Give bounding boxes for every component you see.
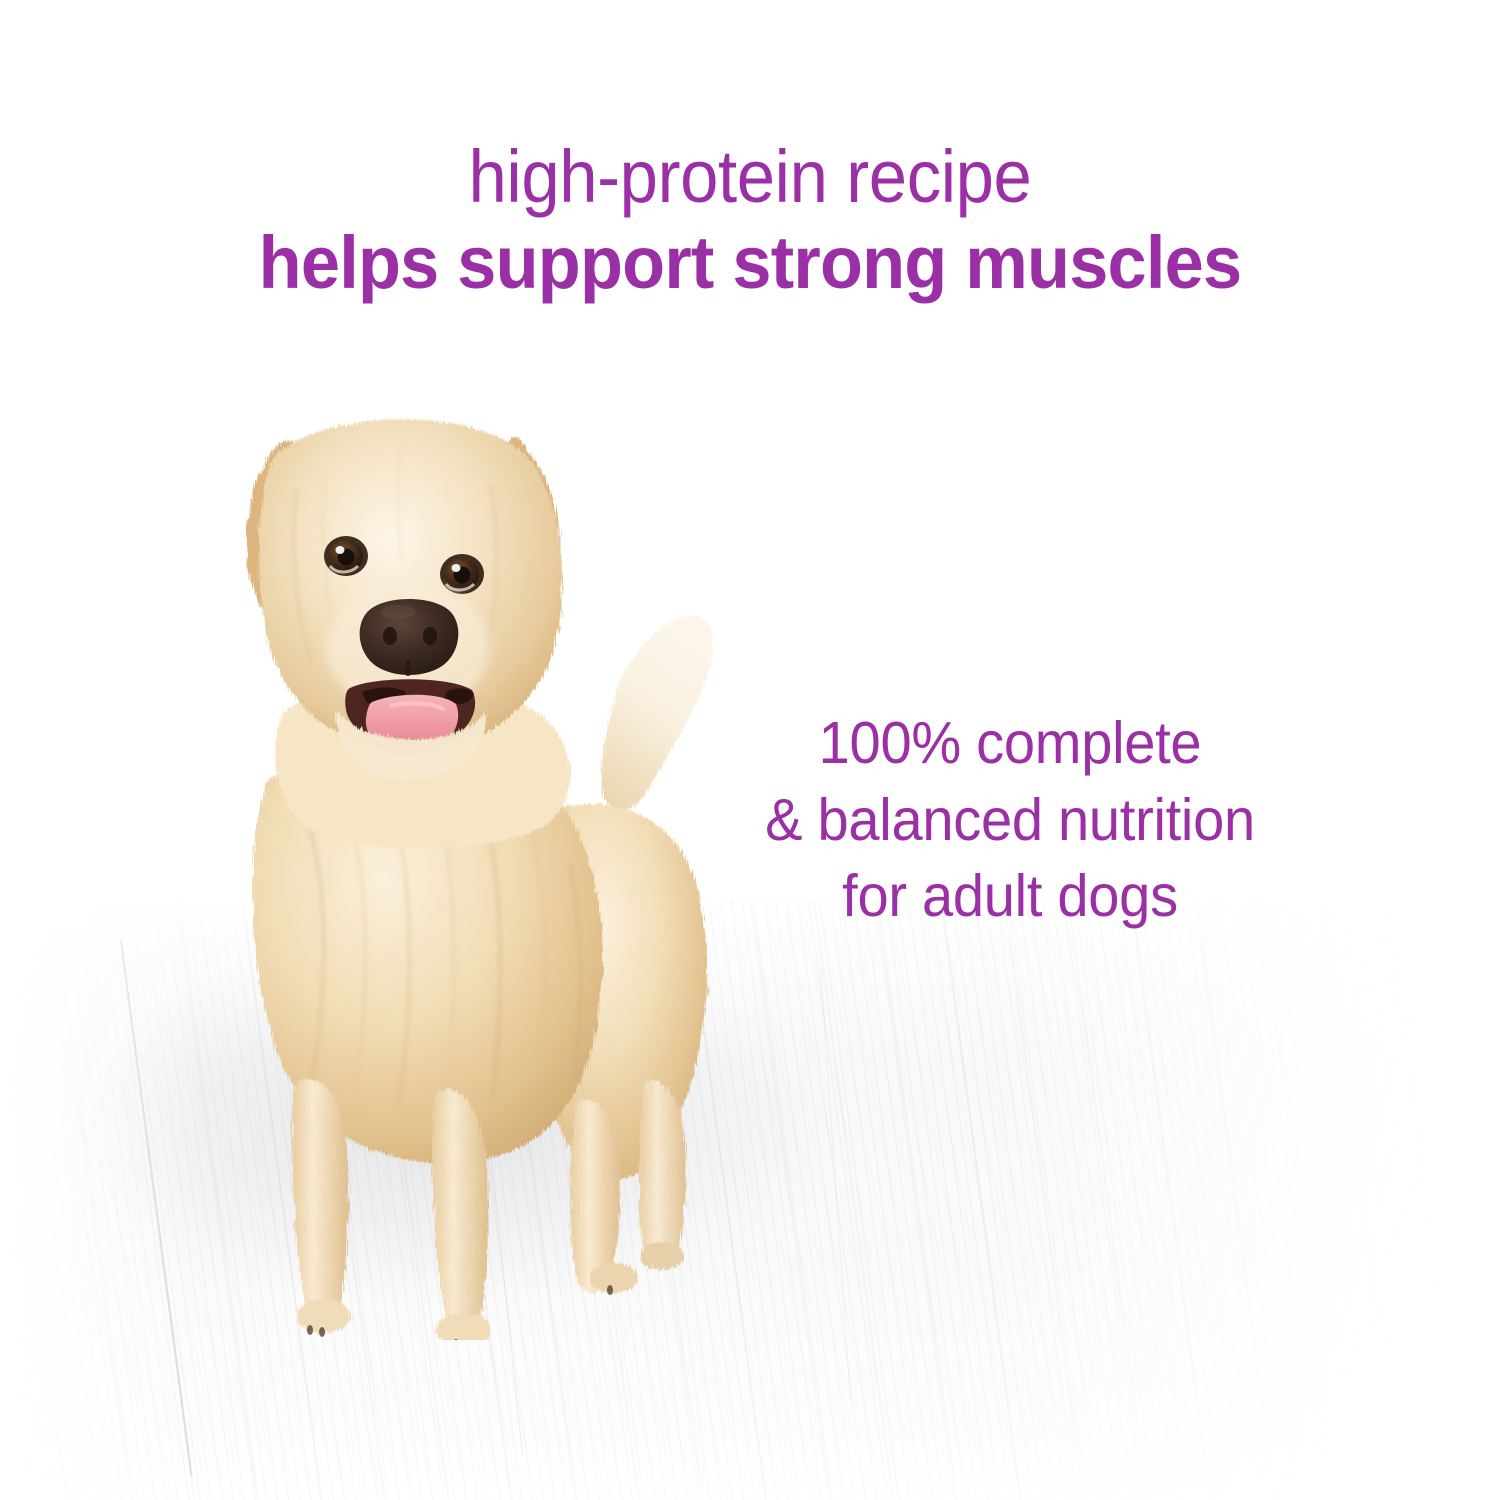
dog-eye-right [440, 554, 484, 594]
subcopy-line-1: 100% complete [697, 705, 1324, 782]
dog-photo [150, 380, 790, 1340]
subcopy-line-3: for adult dogs [697, 858, 1324, 935]
headline-line-1: high-protein recipe [53, 140, 1448, 214]
subcopy-line-2: & balanced nutrition [697, 782, 1324, 859]
dog-paws [297, 1242, 684, 1340]
headline-line-2: helps support strong muscles [38, 226, 1463, 300]
headline: high-protein recipe helps support strong… [0, 140, 1500, 300]
floor-right-fade [980, 900, 1500, 1500]
subcopy-block: 100% complete & balanced nutrition for a… [697, 705, 1324, 935]
promo-banner: high-protein recipe helps support strong… [0, 0, 1500, 1500]
dog-eye-left [324, 536, 368, 576]
dog-nose [360, 599, 459, 676]
